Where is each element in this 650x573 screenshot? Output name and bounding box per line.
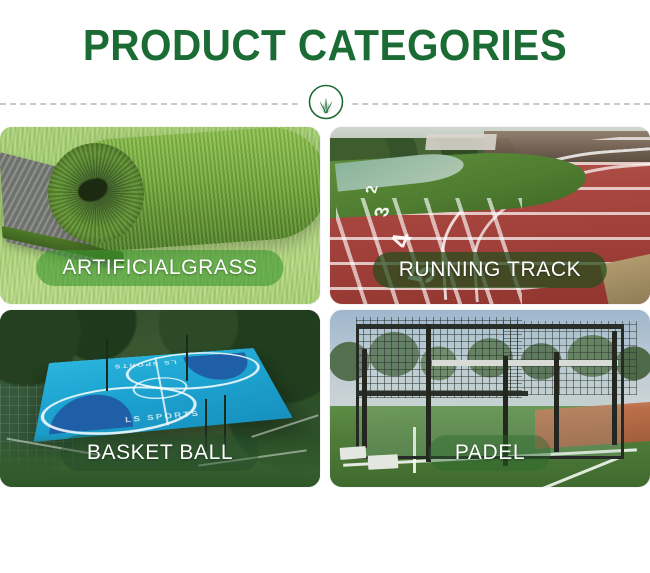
category-card-running-track[interactable]: 2 3 4 5 6 RUNNING TRACK	[330, 127, 650, 304]
grass-circle-icon	[307, 83, 345, 121]
section-divider	[0, 80, 650, 126]
category-label-artificial-grass: ARTIFICIALGRASS	[36, 250, 283, 286]
category-label-running-track: RUNNING TRACK	[373, 252, 607, 288]
page-header: PRODUCT CATEGORIES	[0, 0, 650, 70]
product-category-grid: ARTIFICIALGRASS 2 3 4 5 6 RUNNING TRACK	[0, 127, 650, 487]
page-title: PRODUCT CATEGORIES	[26, 22, 624, 70]
category-label-padel: PADEL	[429, 435, 551, 471]
lane-number: 3	[370, 206, 396, 218]
category-label-basket-ball: BASKET BALL	[61, 435, 259, 471]
category-card-padel[interactable]: PADEL	[330, 310, 650, 487]
category-card-artificial-grass[interactable]: ARTIFICIALGRASS	[0, 127, 320, 304]
category-card-basket-ball[interactable]: LS SPORTS LS SPORTS BASKET BALL	[0, 310, 320, 487]
lane-number: 2	[362, 185, 382, 194]
